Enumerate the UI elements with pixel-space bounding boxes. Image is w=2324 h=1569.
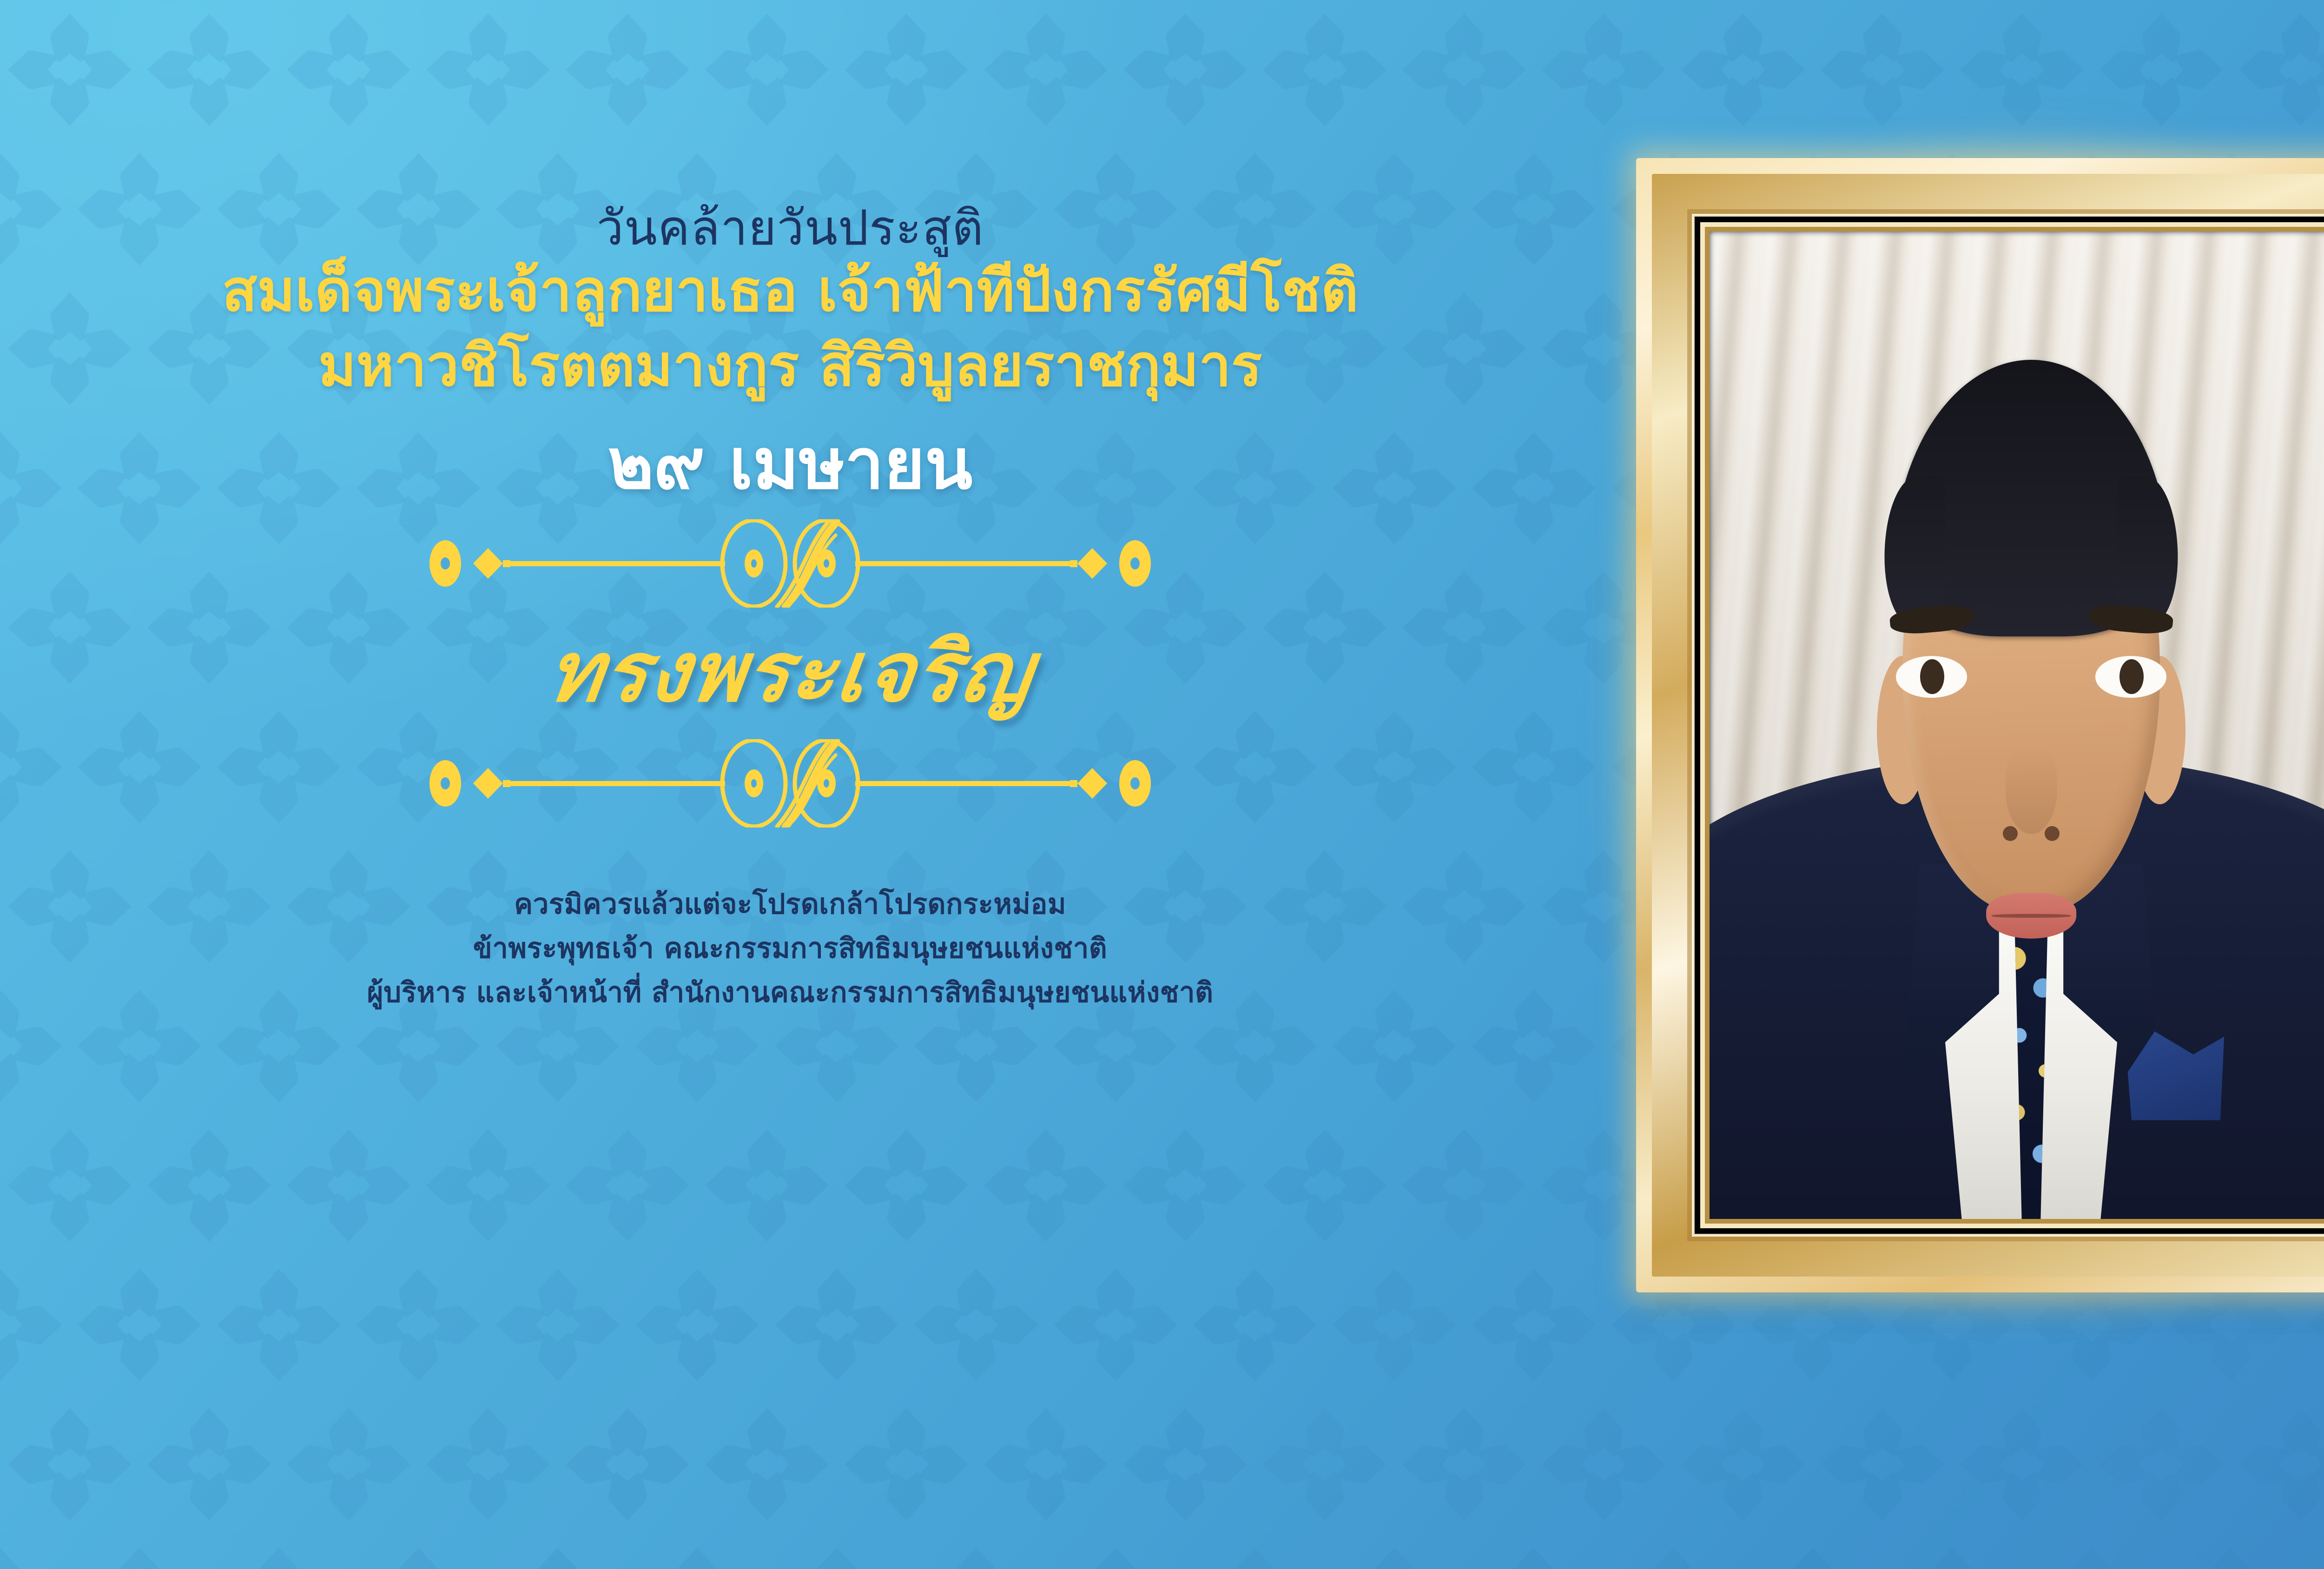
- occasion-line: วันคล้ายวันประสูติ: [596, 200, 984, 256]
- frame-inner-bevel: [1659, 181, 2324, 1269]
- signature-line-3: ผู้บริหาร และเจ้าหน้าที่ สำนักงานคณะกรรม…: [367, 971, 1213, 1015]
- mouth: [1986, 893, 2076, 939]
- portrait-frame: [1636, 158, 2324, 1292]
- signature-line-2: ข้าพระพุทธเจ้า คณะกรรมการสิทธิมนุษยชนแห่…: [367, 927, 1213, 971]
- nose: [2006, 745, 2057, 834]
- eye-right: [2095, 656, 2166, 697]
- signature-block: ควรมิควรแล้วแต่จะโปรดเกล้าโปรดกระหม่อม ข…: [367, 882, 1213, 1014]
- eye-left: [1896, 656, 1967, 697]
- gold-scroll-divider-top: [418, 519, 1162, 608]
- message-column: วันคล้ายวันประสูติ สมเด็จพระเจ้าลูกยาเธอ…: [0, 0, 1580, 1569]
- gold-scroll-divider-bottom: [418, 739, 1162, 828]
- frame-mat: [1694, 216, 2324, 1235]
- long-live-the-prince: ทรงพระเจริญ: [540, 606, 1040, 737]
- royal-title-line-1: สมเด็จพระเจ้าลูกยาเธอ เจ้าฟ้าทีปังกรรัศม…: [222, 256, 1359, 326]
- nostril-right: [2045, 826, 2060, 841]
- royal-portrait-photo: [1710, 232, 2324, 1219]
- nostril-left: [2003, 826, 2018, 841]
- banner-canvas: วันคล้ายวันประสูติ สมเด็จพระเจ้าลูกยาเธอ…: [0, 0, 2324, 1569]
- frame-middle-bevel: [1652, 174, 2324, 1277]
- frame-outer-bevel: [1636, 158, 2324, 1292]
- birth-date: ๒๙ เมษายน: [608, 423, 973, 506]
- signature-line-1: ควรมิควรแล้วแต่จะโปรดเกล้าโปรดกระหม่อม: [367, 882, 1213, 927]
- royal-title-line-2: มหาวชิโรตตมางกูร สิริวิบูลยราชกุมาร: [318, 331, 1262, 401]
